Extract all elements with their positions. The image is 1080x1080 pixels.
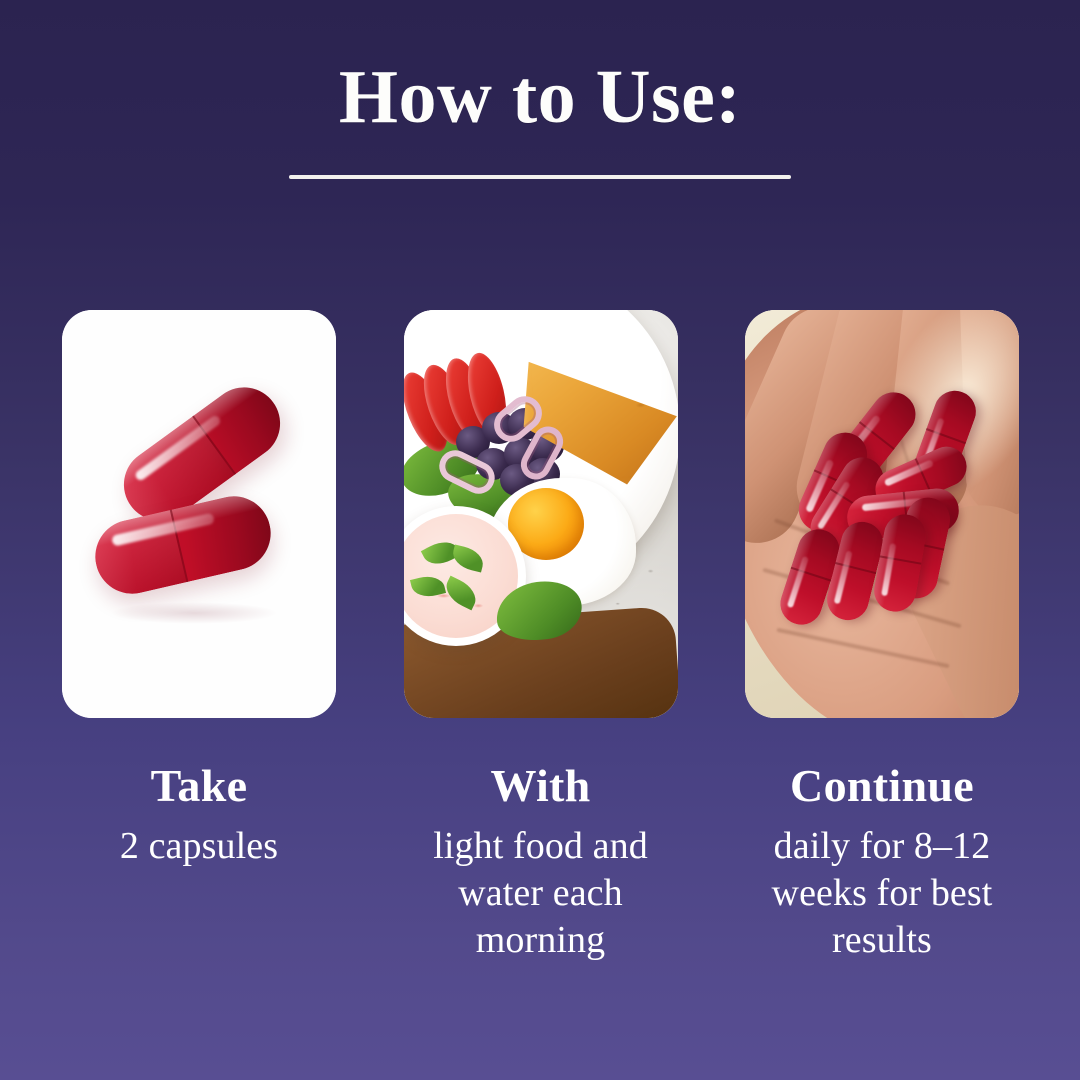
step-image-card-capsules — [62, 310, 336, 718]
step-caption-take: Take 2 capsules — [62, 762, 336, 964]
capsules-on-white-illustration — [62, 310, 336, 718]
palm-with-capsules-illustration — [745, 310, 1019, 718]
step-column-take — [62, 310, 336, 718]
step-caption-with: With light food and water each morning — [404, 762, 678, 964]
capsule-highlight — [833, 550, 853, 604]
capsule-shadow — [110, 602, 278, 624]
step-column-with — [404, 310, 678, 718]
capsule-highlight — [881, 543, 897, 596]
step-description: 2 capsules — [62, 823, 336, 870]
step-description: daily for 8–12 weeks for best results — [745, 823, 1019, 964]
title-divider — [289, 175, 791, 179]
step-title: Take — [62, 762, 336, 811]
step-title: With — [404, 762, 678, 811]
step-description: light food and water each morning — [404, 823, 678, 964]
how-to-use-poster: How to Use: — [0, 0, 1080, 1080]
step-image-card-food — [404, 310, 678, 718]
page-title: How to Use: — [0, 58, 1080, 137]
breakfast-plate-illustration — [404, 310, 678, 718]
poster-header: How to Use: — [0, 58, 1080, 179]
step-column-continue — [745, 310, 1019, 718]
step-caption-row: Take 2 capsules With light food and wate… — [62, 762, 1019, 964]
step-image-row — [62, 310, 1019, 718]
step-image-card-hand — [745, 310, 1019, 718]
step-title: Continue — [745, 762, 1019, 811]
step-caption-continue: Continue daily for 8–12 weeks for best r… — [745, 762, 1019, 964]
